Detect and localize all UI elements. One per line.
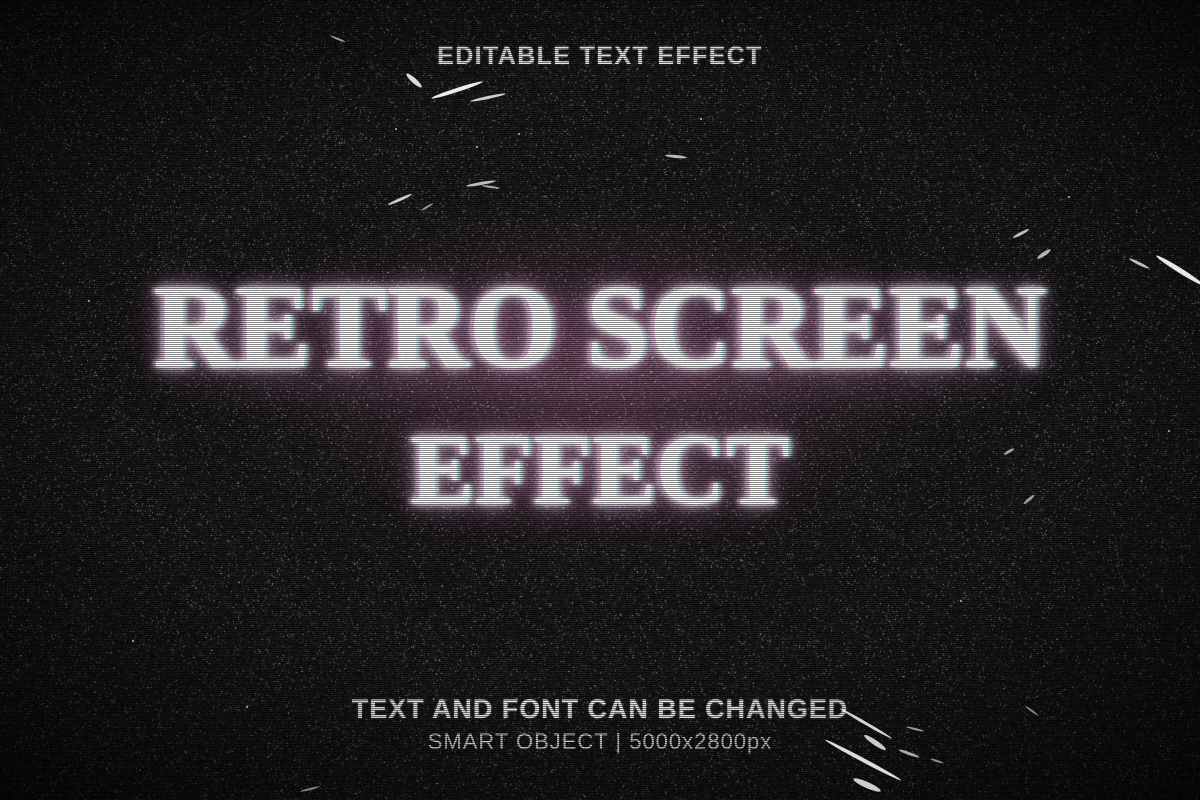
footer-headline: TEXT AND FONT CAN BE CHANGED bbox=[0, 694, 1200, 725]
display-line-primary: RETRO SCREEN RETRO SCREEN RETRO SCREEN bbox=[27, 268, 1173, 386]
dust-speck bbox=[700, 118, 702, 120]
dust-speck bbox=[1068, 196, 1070, 198]
film-scratch bbox=[470, 92, 506, 102]
film-scratch bbox=[930, 758, 944, 764]
display-line-secondary-text: EFFECT EFFECT EFFECT bbox=[410, 420, 790, 520]
display-line-secondary-core: EFFECT bbox=[410, 414, 790, 525]
film-scratch bbox=[852, 776, 882, 794]
poster-canvas: EDITABLE TEXT EFFECT RETRO SCREEN RETRO … bbox=[0, 0, 1200, 800]
dust-speck bbox=[88, 300, 90, 302]
film-scratch bbox=[420, 203, 433, 212]
display-line-primary-text: RETRO SCREEN RETRO SCREEN RETRO SCREEN bbox=[154, 268, 1047, 386]
top-heading: EDITABLE TEXT EFFECT bbox=[0, 42, 1200, 71]
dust-speck bbox=[476, 146, 478, 148]
dust-speck bbox=[395, 128, 397, 130]
film-scratch bbox=[388, 193, 413, 206]
dust-speck bbox=[132, 640, 134, 642]
dust-speck bbox=[246, 706, 248, 708]
film-scratch bbox=[300, 786, 320, 793]
film-scratch bbox=[1036, 248, 1052, 260]
display-text-block: RETRO SCREEN RETRO SCREEN RETRO SCREEN E… bbox=[0, 268, 1200, 520]
film-scratch bbox=[405, 72, 423, 89]
film-scratch bbox=[466, 179, 496, 187]
film-scratch bbox=[482, 185, 500, 189]
film-scratch bbox=[1012, 228, 1029, 239]
film-scratch bbox=[431, 80, 484, 100]
footer-subline: SMART OBJECT | 5000x2800px bbox=[0, 729, 1200, 755]
display-line-primary-core: RETRO SCREEN bbox=[154, 261, 1047, 392]
dust-speck bbox=[1168, 430, 1170, 432]
display-line-secondary: EFFECT EFFECT EFFECT bbox=[27, 420, 1173, 520]
dust-speck bbox=[960, 600, 962, 602]
dust-speck bbox=[518, 133, 520, 135]
film-scratch bbox=[665, 154, 687, 159]
